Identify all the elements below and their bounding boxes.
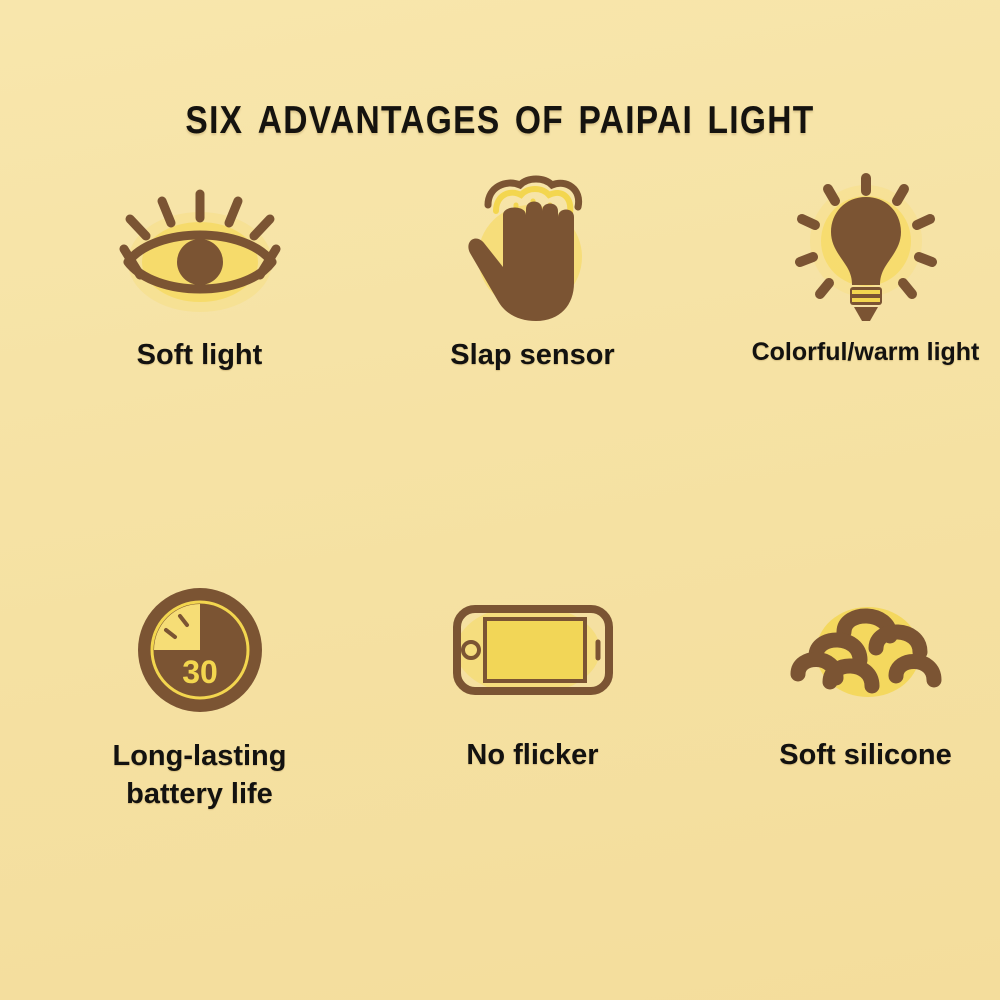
hand-icon	[366, 175, 699, 325]
feature-card-colorful-warm-light: Colorful/warm light	[699, 175, 1000, 368]
feature-label: No flicker	[366, 737, 699, 773]
feature-card-soft-light: Soft light	[33, 175, 366, 373]
feature-label: Soft light	[33, 337, 366, 373]
feature-label: Slap sensor	[366, 337, 699, 373]
timer-value: 30	[182, 654, 218, 690]
page-title: Six Advantages of PaiPai Light	[70, 82, 930, 146]
feature-label: Soft silicone	[699, 737, 1000, 773]
feature-label: Colorful/warm light	[699, 337, 1000, 368]
feature-card-soft-silicone: Soft silicone	[699, 575, 1000, 773]
cloud-puff-icon	[699, 575, 1000, 725]
timer-icon: 30	[33, 575, 366, 725]
feature-label: Long-lasting battery life	[33, 737, 366, 814]
feature-card-no-flicker: No flicker	[366, 575, 699, 773]
lightbulb-icon	[699, 175, 1000, 325]
features-grid: Soft light Slap sensor	[0, 175, 1000, 875]
feature-card-long-lasting-battery-life: 30 Long-lasting battery life	[33, 575, 366, 814]
infographic-poster: Six Advantages of PaiPai Light	[0, 0, 1000, 1000]
eye-icon	[33, 175, 366, 325]
feature-card-slap-sensor: Slap sensor	[366, 175, 699, 373]
phone-screen-icon	[366, 575, 699, 725]
